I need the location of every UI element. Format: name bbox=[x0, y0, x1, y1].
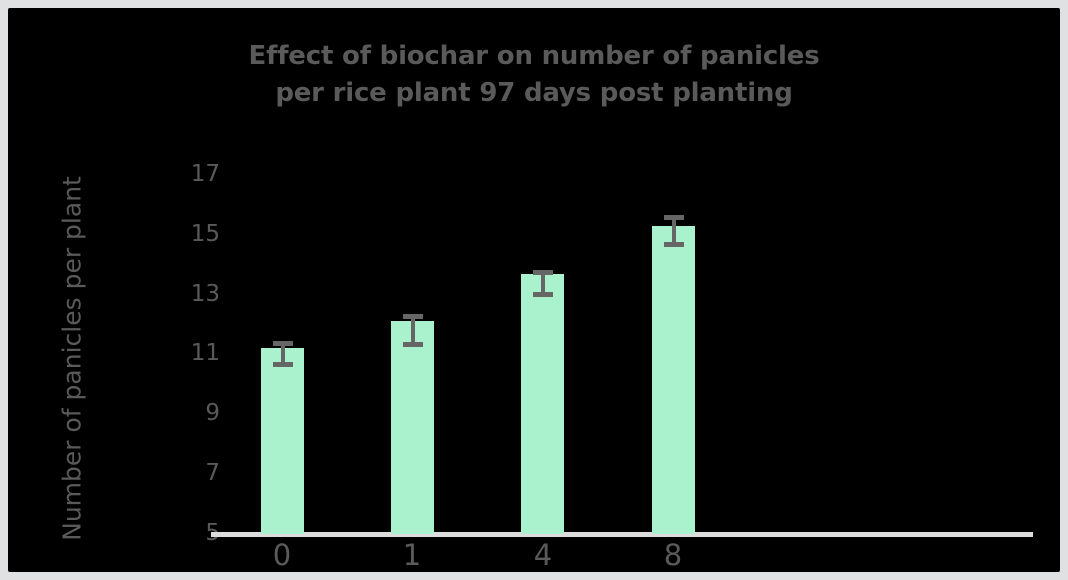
error-bar-cap-top-3 bbox=[664, 215, 684, 220]
bar-group-2[interactable] bbox=[521, 8, 564, 572]
error-bar-0 bbox=[273, 341, 293, 367]
error-bar-3 bbox=[664, 215, 684, 247]
error-bar-cap-top-1 bbox=[403, 314, 423, 319]
error-bar-cap-top-0 bbox=[273, 341, 293, 346]
error-bar-cap-bottom-1 bbox=[403, 342, 423, 347]
chart-container: Effect of biochar on number of panicles … bbox=[8, 8, 1060, 572]
bar-1[interactable] bbox=[391, 321, 434, 534]
error-bar-cap-top-2 bbox=[533, 270, 553, 275]
bar-group-0[interactable] bbox=[261, 8, 304, 572]
error-bar-cap-bottom-0 bbox=[273, 362, 293, 367]
bar-2[interactable] bbox=[521, 274, 564, 534]
bar-group-1[interactable] bbox=[391, 8, 434, 572]
error-bar-cap-bottom-3 bbox=[664, 242, 684, 247]
bar-group-3[interactable] bbox=[652, 8, 695, 572]
error-bar-2 bbox=[533, 270, 553, 297]
error-bar-1 bbox=[403, 314, 423, 347]
x-tick-label-3: 8 bbox=[593, 538, 753, 572]
bar-series bbox=[8, 8, 1060, 572]
error-bar-cap-bottom-2 bbox=[533, 292, 553, 297]
plot-area: 17 15 13 11 9 7 5 bbox=[8, 8, 1060, 572]
bar-0[interactable] bbox=[261, 348, 304, 534]
bar-3[interactable] bbox=[652, 226, 695, 534]
